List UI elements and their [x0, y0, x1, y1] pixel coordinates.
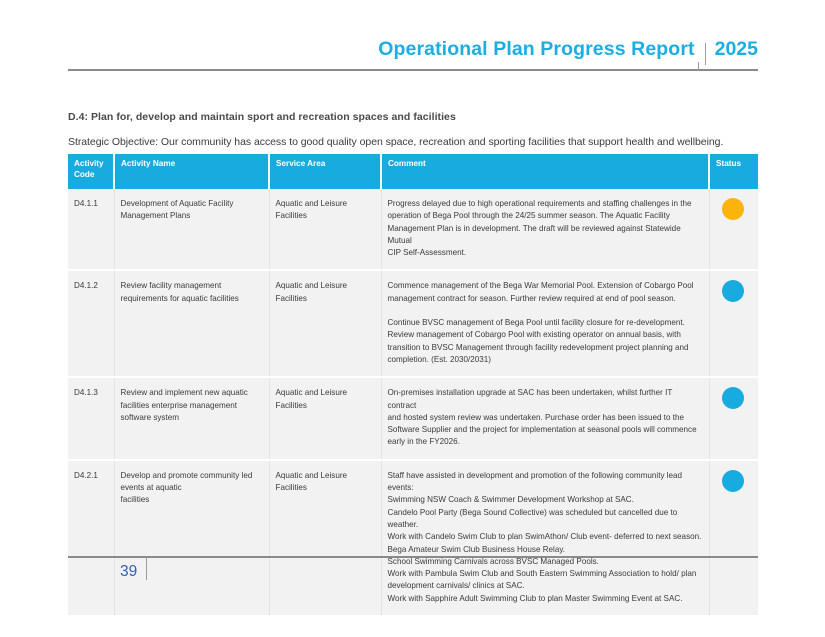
cell-service-area: Aquatic and Leisure Facilities [269, 189, 381, 270]
header-rule-tick [698, 62, 699, 71]
comment-line: Work with Sapphire Adult Swimming Club t… [388, 593, 702, 605]
cell-activity-name: Development of Aquatic FacilityManagemen… [114, 189, 269, 270]
activity-name-line: Develop and promote community led [121, 470, 262, 482]
section-heading: D.4: Plan for, develop and maintain spor… [68, 111, 456, 123]
cell-activity-code: D4.1.2 [68, 270, 114, 377]
cell-service-area: Aquatic and Leisure Facilities [269, 460, 381, 615]
cell-service-area: Aquatic and Leisure Facilities [269, 377, 381, 459]
comment-line: Candelo Pool Party (Bega Sound Collectiv… [388, 507, 702, 532]
cell-comment: Commence management of the Bega War Memo… [381, 270, 709, 377]
table-body: D4.1.1Development of Aquatic FacilityMan… [68, 189, 758, 615]
comment-line: transition to BVSC Management through fa… [388, 342, 702, 354]
status-badge-blue [722, 387, 744, 409]
page-number: 39 [120, 563, 137, 581]
column-header-activity-code: Activity Code [68, 154, 114, 189]
comment-line: Management Plan is in development. The d… [388, 223, 702, 248]
table-row: D4.1.2Review facility managementrequirem… [68, 270, 758, 377]
status-badge-blue [722, 280, 744, 302]
cell-status [709, 377, 758, 459]
comment-paragraph-gap [388, 305, 702, 317]
table-header-row: Activity Code Activity Name Service Area… [68, 154, 758, 189]
comment-line: Review management of Cobargo Pool with e… [388, 329, 702, 341]
cell-activity-name: Develop and promote community ledevents … [114, 460, 269, 615]
comment-line: Swimming NSW Coach & Swimmer Development… [388, 494, 702, 506]
cell-comment: Staff have assisted in development and p… [381, 460, 709, 615]
cell-comment: On-premises installation upgrade at SAC … [381, 377, 709, 459]
activity-name-line: Review facility management [121, 280, 262, 292]
activity-name-line: requirements for aquatic facilities [121, 293, 262, 305]
activity-name-line: events at aquatic [121, 482, 262, 494]
table-header: Activity Code Activity Name Service Area… [68, 154, 758, 189]
comment-line: Continue BVSC management of Bega Pool un… [388, 317, 702, 329]
comment-line: Work with Candelo Swim Club to plan Swim… [388, 531, 702, 543]
column-header-status: Status [709, 154, 758, 189]
cell-status [709, 189, 758, 270]
comment-line: Work with Pambula Swim Club and South Ea… [388, 568, 702, 580]
comment-line: Staff have assisted in development and p… [388, 470, 702, 482]
comment-line: management contract for season. Further … [388, 293, 702, 305]
activity-name-line: facilities enterprise management [121, 400, 262, 412]
comment-line: CIP Self-Assessment. [388, 247, 702, 259]
strategic-objective: Strategic Objective: Our community has a… [68, 136, 723, 148]
page-title: Operational Plan Progress Report [378, 38, 694, 61]
column-header-service-area: Service Area [269, 154, 381, 189]
table-row: D4.2.1Develop and promote community lede… [68, 460, 758, 615]
column-header-activity-name: Activity Name [114, 154, 269, 189]
header-rule [68, 69, 758, 71]
cell-activity-name: Review facility managementrequirements f… [114, 270, 269, 377]
comment-line: On-premises installation upgrade at SAC … [388, 387, 702, 412]
cell-status [709, 460, 758, 615]
cell-service-area: Aquatic and Leisure Facilities [269, 270, 381, 377]
report-year: 2025 [715, 38, 758, 61]
activity-name-line: software system [121, 412, 262, 424]
activity-name-line: Management Plans [121, 210, 262, 222]
comment-line: operation of Bega Pool through the 24/25… [388, 210, 702, 222]
header-divider [705, 43, 706, 65]
cell-activity-code: D4.2.1 [68, 460, 114, 615]
column-header-comment: Comment [381, 154, 709, 189]
comment-line: Software Supplier and the project for im… [388, 424, 702, 436]
table-row: D4.1.1Development of Aquatic FacilityMan… [68, 189, 758, 270]
table-row: D4.1.3Review and implement new aquaticfa… [68, 377, 758, 459]
comment-line: events: [388, 482, 702, 494]
cell-activity-code: D4.1.1 [68, 189, 114, 270]
cell-comment: Progress delayed due to high operational… [381, 189, 709, 270]
progress-table-wrap: Activity Code Activity Name Service Area… [68, 154, 758, 615]
header-title-row: Operational Plan Progress Report 2025 [68, 38, 758, 68]
footer-rule [68, 556, 758, 558]
comment-line: completion. (Est. 2030/2031) [388, 354, 702, 366]
comment-line: Bega Amateur Swim Club Business House Re… [388, 544, 702, 556]
comment-line: and hosted system review was undertaken.… [388, 412, 702, 424]
comment-line: Progress delayed due to high operational… [388, 198, 702, 210]
page-header: Operational Plan Progress Report 2025 [68, 38, 758, 72]
activity-name-line: facilities [121, 494, 262, 506]
status-badge-blue [722, 470, 744, 492]
cell-status [709, 270, 758, 377]
comment-line: early in the FY2026. [388, 436, 702, 448]
status-badge-amber [722, 198, 744, 220]
activity-name-line: Review and implement new aquatic [121, 387, 262, 399]
page-number-bar [146, 564, 147, 580]
cell-activity-code: D4.1.3 [68, 377, 114, 459]
comment-line: Commence management of the Bega War Memo… [388, 280, 702, 292]
comment-line: development carnivals/ clinics at SAC. [388, 580, 702, 592]
activity-name-line: Development of Aquatic Facility [121, 198, 262, 210]
progress-table: Activity Code Activity Name Service Area… [68, 154, 758, 615]
cell-activity-name: Review and implement new aquaticfaciliti… [114, 377, 269, 459]
